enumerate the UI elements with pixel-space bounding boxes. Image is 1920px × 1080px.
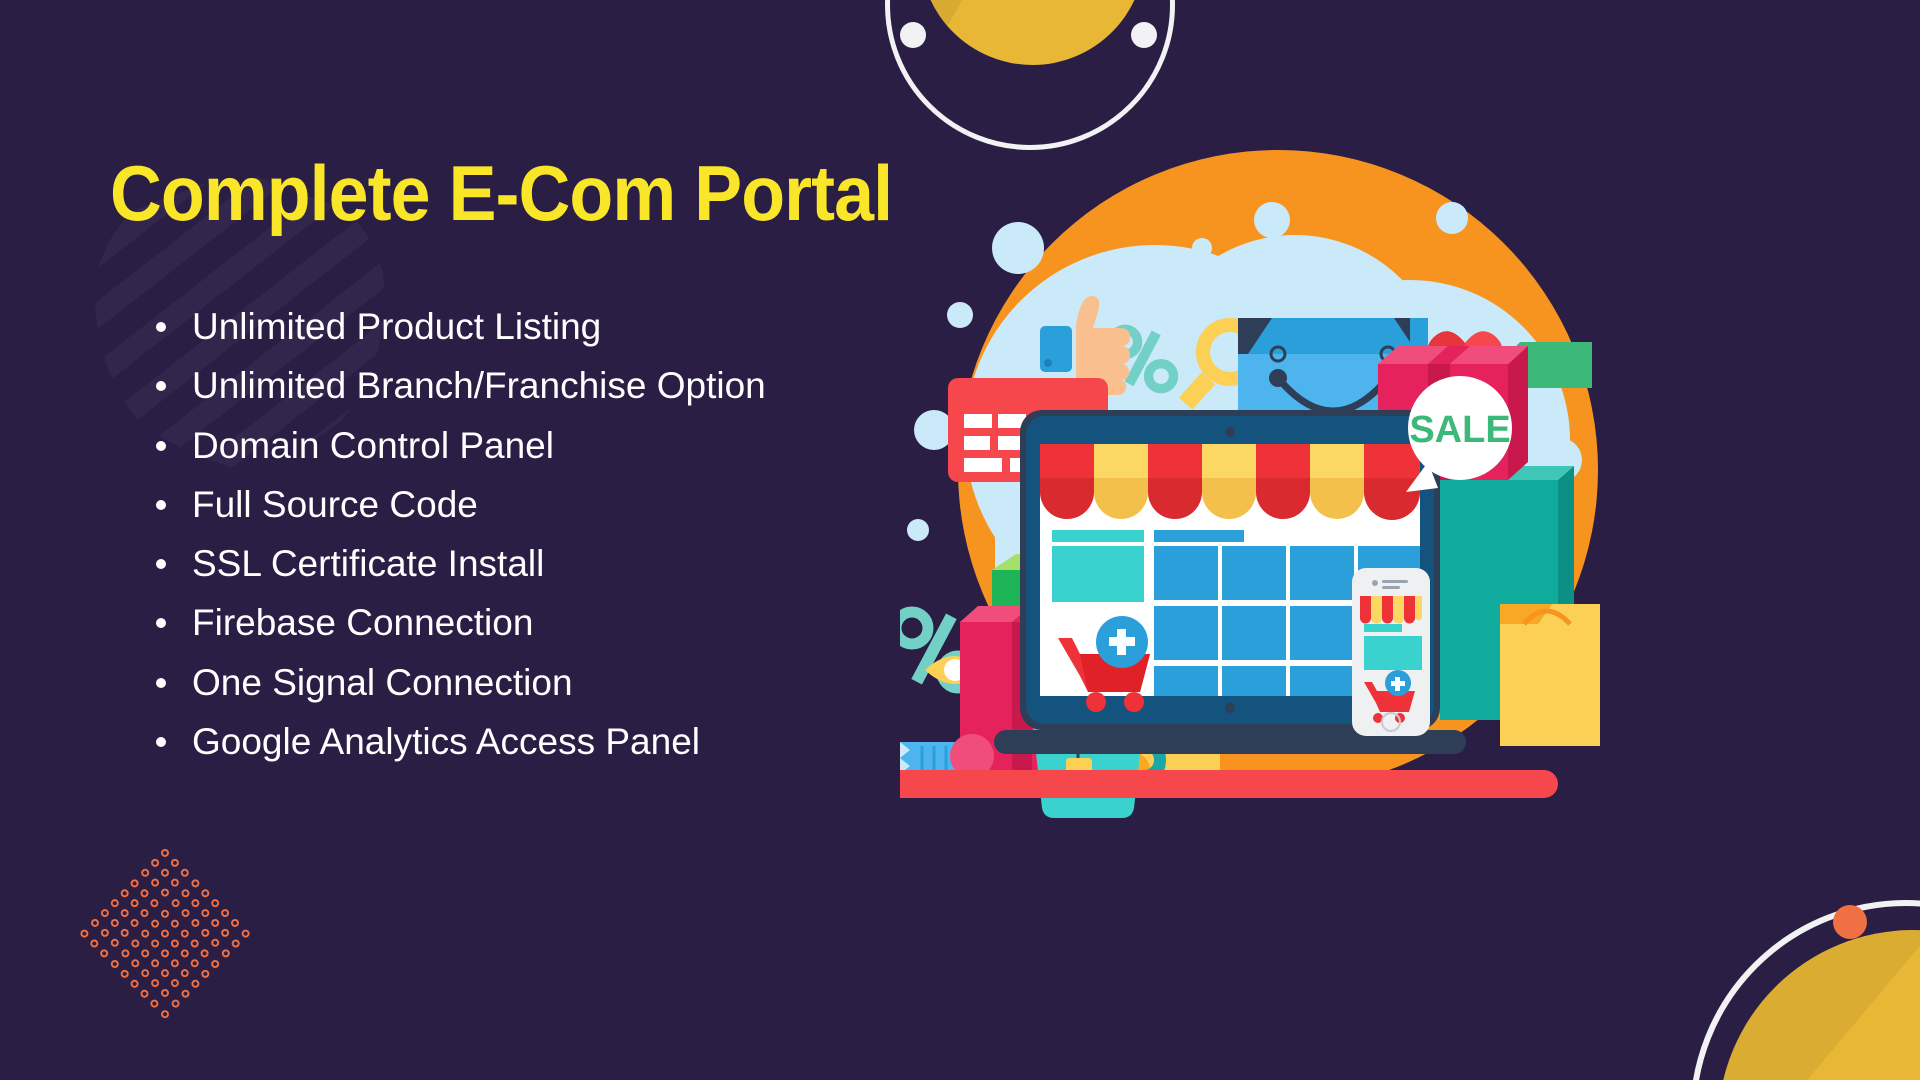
diamond-dot <box>189 898 200 909</box>
slide-canvas: Complete E-Com Portal Unlimited Product … <box>0 0 1920 1080</box>
diamond-dot <box>129 898 140 909</box>
phone-awning <box>1360 596 1422 624</box>
diamond-dot <box>139 908 150 919</box>
diamond-dot <box>139 928 150 939</box>
diamond-dot <box>109 938 120 949</box>
diamond-dot <box>149 998 160 1009</box>
diamond-dot <box>169 878 180 889</box>
shelf-bar <box>900 770 1558 798</box>
phone <box>1352 568 1430 736</box>
diamond-dot <box>179 948 190 959</box>
diamond-dot <box>129 978 140 989</box>
diamond-dot-row <box>85 913 187 1015</box>
diamond-dot <box>159 948 170 959</box>
top-orbit-dot-right <box>1131 22 1157 48</box>
hero-tile <box>1052 546 1144 602</box>
diamond-dot <box>240 928 251 939</box>
diamond-dot <box>89 918 100 929</box>
diamond-dot <box>169 978 180 989</box>
diamond-dot <box>119 968 130 979</box>
diamond-dot <box>220 948 231 959</box>
diamond-dot <box>189 938 200 949</box>
diamond-dot-row <box>125 873 227 975</box>
diamond-dot <box>210 898 221 909</box>
diamond-dot <box>149 958 160 969</box>
content-bar-left <box>1052 530 1144 542</box>
diamond-dot <box>159 868 170 879</box>
sale-badge-label: SALE <box>1409 409 1510 451</box>
diamond-dot <box>149 857 160 868</box>
diamond-dot <box>169 898 180 909</box>
diamond-dot <box>220 928 231 939</box>
diamond-dot-row <box>95 903 197 1005</box>
diamond-dot-row <box>135 863 237 965</box>
diamond-dot <box>179 988 190 999</box>
diamond-dot <box>139 948 150 959</box>
paper-bag-orange <box>1500 604 1600 746</box>
diamond-dot <box>149 978 160 989</box>
diamond-dot <box>149 898 160 909</box>
diamond-dot <box>139 968 150 979</box>
diamond-dot <box>129 958 140 969</box>
diamond-dot <box>189 958 200 969</box>
diamond-dot <box>199 948 210 959</box>
diamond-dot <box>159 988 170 999</box>
diamond-dot <box>189 878 200 889</box>
diamond-dot <box>139 988 150 999</box>
diamond-dot <box>169 998 180 1009</box>
diamond-dot <box>169 918 180 929</box>
diamond-dot-pattern <box>73 843 257 1027</box>
diamond-dot <box>119 888 130 899</box>
diamond-dot <box>199 928 210 939</box>
diamond-dot-row <box>75 923 177 1025</box>
list-item: Unlimited Product Listing <box>150 300 890 353</box>
page-title: Complete E-Com Portal <box>110 148 892 239</box>
diamond-dot <box>210 938 221 949</box>
diamond-dot <box>159 908 170 919</box>
diamond-dot-row <box>115 883 217 985</box>
diamond-dot <box>179 968 190 979</box>
top-orbit-dot-left <box>900 22 926 48</box>
diamond-dot <box>169 958 180 969</box>
top-gold-circle <box>920 0 1145 65</box>
list-item: Firebase Connection <box>150 596 890 649</box>
content-bar-right <box>1154 530 1244 542</box>
diamond-dot <box>230 918 241 929</box>
diamond-dot <box>149 938 160 949</box>
diamond-dot <box>189 918 200 929</box>
diamond-dot <box>129 938 140 949</box>
top-gold-circle-shade <box>920 0 1145 65</box>
diamond-dot <box>179 868 190 879</box>
bottom-orbit-dot <box>1833 905 1867 939</box>
diamond-dot <box>139 888 150 899</box>
diamond-dot <box>149 878 160 889</box>
list-item: SSL Certificate Install <box>150 537 890 590</box>
diamond-dot <box>79 928 90 939</box>
diamond-dot <box>149 918 160 929</box>
diamond-dot <box>169 938 180 949</box>
diamond-dot <box>179 908 190 919</box>
diamond-dot <box>220 908 231 919</box>
diamond-dot <box>109 898 120 909</box>
diamond-dot <box>99 908 110 919</box>
list-item: Unlimited Branch/Franchise Option <box>150 359 890 412</box>
diamond-dot <box>119 928 130 939</box>
diamond-dot <box>99 948 110 959</box>
diamond-dot-row <box>155 843 257 945</box>
diamond-dot <box>119 908 130 919</box>
diamond-dot <box>210 958 221 969</box>
diamond-dot <box>109 918 120 929</box>
diamond-dot <box>230 938 241 949</box>
diamond-dot <box>129 878 140 889</box>
diamond-dot <box>199 888 210 899</box>
diamond-dot-row <box>145 853 247 955</box>
diamond-dot <box>119 948 130 959</box>
diamond-dot-row <box>105 893 207 995</box>
ecommerce-illustration: SALE <box>900 130 1600 830</box>
list-item: Full Source Code <box>150 478 890 531</box>
diamond-dot <box>129 918 140 929</box>
diamond-dot <box>159 968 170 979</box>
diamond-dot <box>159 928 170 939</box>
diamond-dot <box>169 857 180 868</box>
diamond-dot <box>89 938 100 949</box>
diamond-dot <box>199 908 210 919</box>
diamond-dot <box>159 888 170 899</box>
diamond-dot <box>99 928 110 939</box>
diamond-dot <box>139 868 150 879</box>
diamond-dot <box>210 918 221 929</box>
diamond-dot <box>179 888 190 899</box>
bottom-gold-circle <box>1718 930 1920 1080</box>
bottom-orbit-ring <box>1690 900 1920 1080</box>
list-item: Domain Control Panel <box>150 419 890 472</box>
list-item: Google Analytics Access Panel <box>150 715 890 768</box>
bottom-gold-circle-shade <box>1718 930 1920 1080</box>
top-orbit-ring <box>885 0 1175 150</box>
diamond-dot <box>179 928 190 939</box>
diamond-dot <box>159 1008 170 1019</box>
diamond-dot <box>159 847 170 858</box>
diamond-dot <box>199 968 210 979</box>
list-item: One Signal Connection <box>150 656 890 709</box>
diamond-dot <box>189 978 200 989</box>
feature-list: Unlimited Product Listing Unlimited Bran… <box>150 300 890 774</box>
diamond-dot <box>109 958 120 969</box>
